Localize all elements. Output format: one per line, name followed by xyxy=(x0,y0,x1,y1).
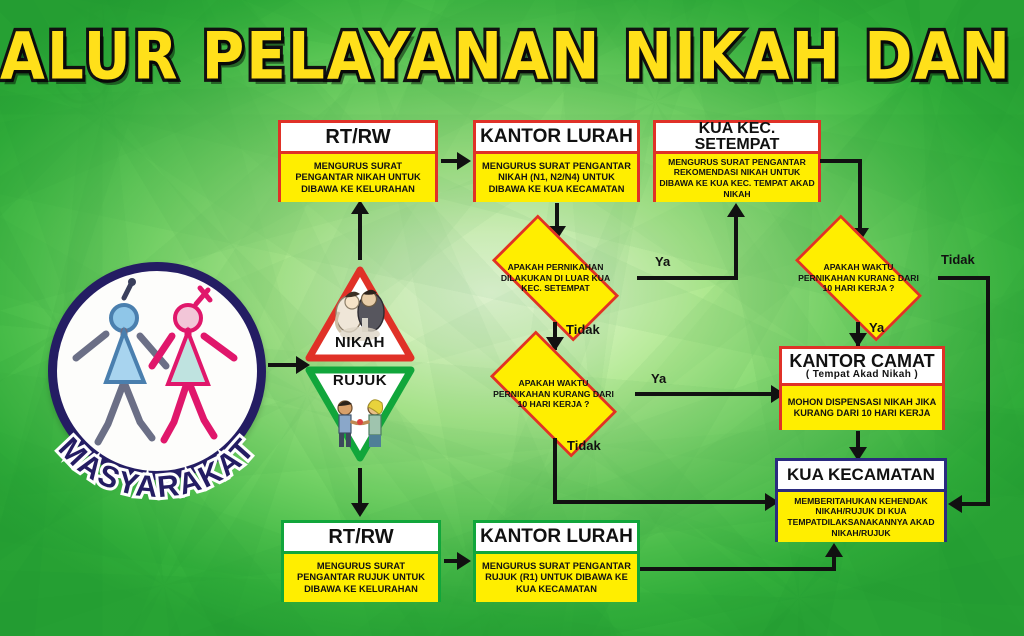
female-dress xyxy=(168,332,208,384)
box-rtrw-nikah-header: RT/RW xyxy=(281,123,435,154)
box-kantor-camat[interactable]: KANTOR CAMAT ( Tempat Akad Nikah ) MOHON… xyxy=(779,346,945,430)
box-kua-kecamatan-body: MEMBERITAHUKAN KEHENDAK NIKAH/RUJUK DI K… xyxy=(778,492,944,542)
edge-d3-no-h2 xyxy=(962,502,990,506)
male-shirt xyxy=(106,332,144,382)
box-kua-kecamatan-header: KUA KECAMATAN xyxy=(778,461,944,492)
arrowhead-nikah-to-rtrw xyxy=(351,200,369,214)
decision-luar-kua[interactable]: APAKAH PERNIKAHAN DILAKUKAN DI LUAR KUA … xyxy=(474,232,637,324)
box-rtrw-rujuk-body: MENGURUS SURAT PENGANTAR RUJUK UNTUK DIB… xyxy=(284,554,438,602)
box-rtrw-rujuk[interactable]: RT/RW MENGURUS SURAT PENGANTAR RUJUK UNT… xyxy=(281,520,441,602)
decision-luar-kua-label: APAKAH PERNIKAHAN DILAKUKAN DI LUAR KUA … xyxy=(474,232,637,324)
svg-text:MASYARAKAT: MASYARAKAT xyxy=(52,432,262,505)
edge-emblem-to-gateways xyxy=(268,363,298,367)
box-kantor-lurah-nikah-body: MENGURUS SURAT PENGANTAR NIKAH (N1, N2/N… xyxy=(476,154,637,202)
box-rtrw-rujuk-header: RT/RW xyxy=(284,523,438,554)
box-kantor-camat-subtitle: ( Tempat Akad Nikah ) xyxy=(806,370,918,380)
arrowhead-rujuk-to-rtrw xyxy=(351,503,369,517)
masyarakat-emblem: MASYARAKAT xyxy=(48,262,266,480)
edge-d3-no-v xyxy=(986,276,990,506)
edge-d2-yes xyxy=(635,392,775,396)
edge-label-d2-no: Tidak xyxy=(567,438,601,453)
edge-label-d2-yes: Ya xyxy=(651,371,666,386)
edge-rujuk-to-rtrw xyxy=(358,468,362,506)
gateway-rujuk-label: RUJUK xyxy=(305,372,415,389)
decision-waktu-kanan[interactable]: APAKAH WAKTU PERNIKAHAN KURANG DARI 10 H… xyxy=(777,232,940,324)
flowchart-canvas: ALUR PELAYANAN NIKAH DAN RUJUK xyxy=(0,0,1024,636)
edge-label-d1-no: Tidak xyxy=(566,322,600,337)
edge-d2-no-v xyxy=(553,438,557,504)
arrowhead-lurah-rujuk-to-kuakec xyxy=(825,543,843,557)
page-title: ALUR PELAYANAN NIKAH DAN RUJUK xyxy=(0,18,1024,94)
emblem-label-arc: MASYARAKAT xyxy=(32,380,282,510)
box-kua-kecamatan[interactable]: KUA KECAMATAN MEMBERITAHUKAN KEHENDAK NI… xyxy=(775,458,947,542)
edge-label-d1-yes: Ya xyxy=(655,254,670,269)
box-kantor-lurah-nikah[interactable]: KANTOR LURAH MENGURUS SURAT PENGANTAR NI… xyxy=(473,120,640,202)
edge-d1-yes-v xyxy=(734,216,738,278)
edge-kuasetempat-right xyxy=(820,159,862,163)
decision-waktu-kanan-label: APAKAH WAKTU PERNIKAHAN KURANG DARI 10 H… xyxy=(777,232,940,324)
arrowhead-rtrw-to-lurah-nikah xyxy=(457,152,471,170)
box-kua-kec-setempat-body: MENGURUS SURAT PENGANTAR REKOMENDASI NIK… xyxy=(656,154,818,202)
box-kua-kec-setempat-header: KUA KEC. SETEMPAT xyxy=(656,123,818,154)
arrowhead-rtrw-to-lurah-rujuk xyxy=(457,552,471,570)
gateway-nikah-label: NIKAH xyxy=(305,334,415,351)
edge-lurah-rujuk-v xyxy=(832,556,836,569)
box-kantor-lurah-rujuk-header: KANTOR LURAH xyxy=(476,523,637,554)
decision-waktu-kiri-label: APAKAH WAKTU PERNIKAHAN KURANG DARI 10 H… xyxy=(472,348,635,440)
edge-d1-yes-h xyxy=(637,276,738,280)
gateway-nikah[interactable]: NIKAH xyxy=(305,266,415,362)
gateway-rujuk[interactable]: RUJUK xyxy=(305,366,415,462)
box-kantor-camat-title: KANTOR CAMAT xyxy=(789,352,934,370)
arrowhead-d1-yes xyxy=(727,203,745,217)
box-kua-kec-setempat[interactable]: KUA KEC. SETEMPAT MENGURUS SURAT PENGANT… xyxy=(653,120,821,202)
emblem-label: MASYARAKAT xyxy=(52,432,262,505)
edge-lurah-rujuk-h xyxy=(640,567,836,571)
box-kantor-camat-body: MOHON DISPENSASI NIKAH JIKA KURANG DARI … xyxy=(782,386,942,430)
arrowhead-d3-no xyxy=(948,495,962,513)
edge-nikah-to-rtrw xyxy=(358,212,362,260)
edge-label-d3-no: Tidak xyxy=(941,252,975,267)
box-kantor-lurah-nikah-header: KANTOR LURAH xyxy=(476,123,637,154)
edge-kuasetempat-down xyxy=(858,159,862,231)
arrowhead-d3-yes xyxy=(849,333,867,347)
edge-d2-no-h xyxy=(553,500,768,504)
box-rtrw-nikah[interactable]: RT/RW MENGURUS SURAT PENGANTAR NIKAH UNT… xyxy=(278,120,438,202)
decision-waktu-kiri[interactable]: APAKAH WAKTU PERNIKAHAN KURANG DARI 10 H… xyxy=(472,348,635,440)
box-kantor-lurah-rujuk[interactable]: KANTOR LURAH MENGURUS SURAT PENGANTAR RU… xyxy=(473,520,640,602)
box-kantor-camat-header: KANTOR CAMAT ( Tempat Akad Nikah ) xyxy=(782,349,942,386)
box-kantor-lurah-rujuk-body: MENGURUS SURAT PENGANTAR RUJUK (R1) UNTU… xyxy=(476,554,637,602)
edge-d3-no-h1 xyxy=(938,276,990,280)
box-rtrw-nikah-body: MENGURUS SURAT PENGANTAR NIKAH UNTUK DIB… xyxy=(281,154,435,202)
